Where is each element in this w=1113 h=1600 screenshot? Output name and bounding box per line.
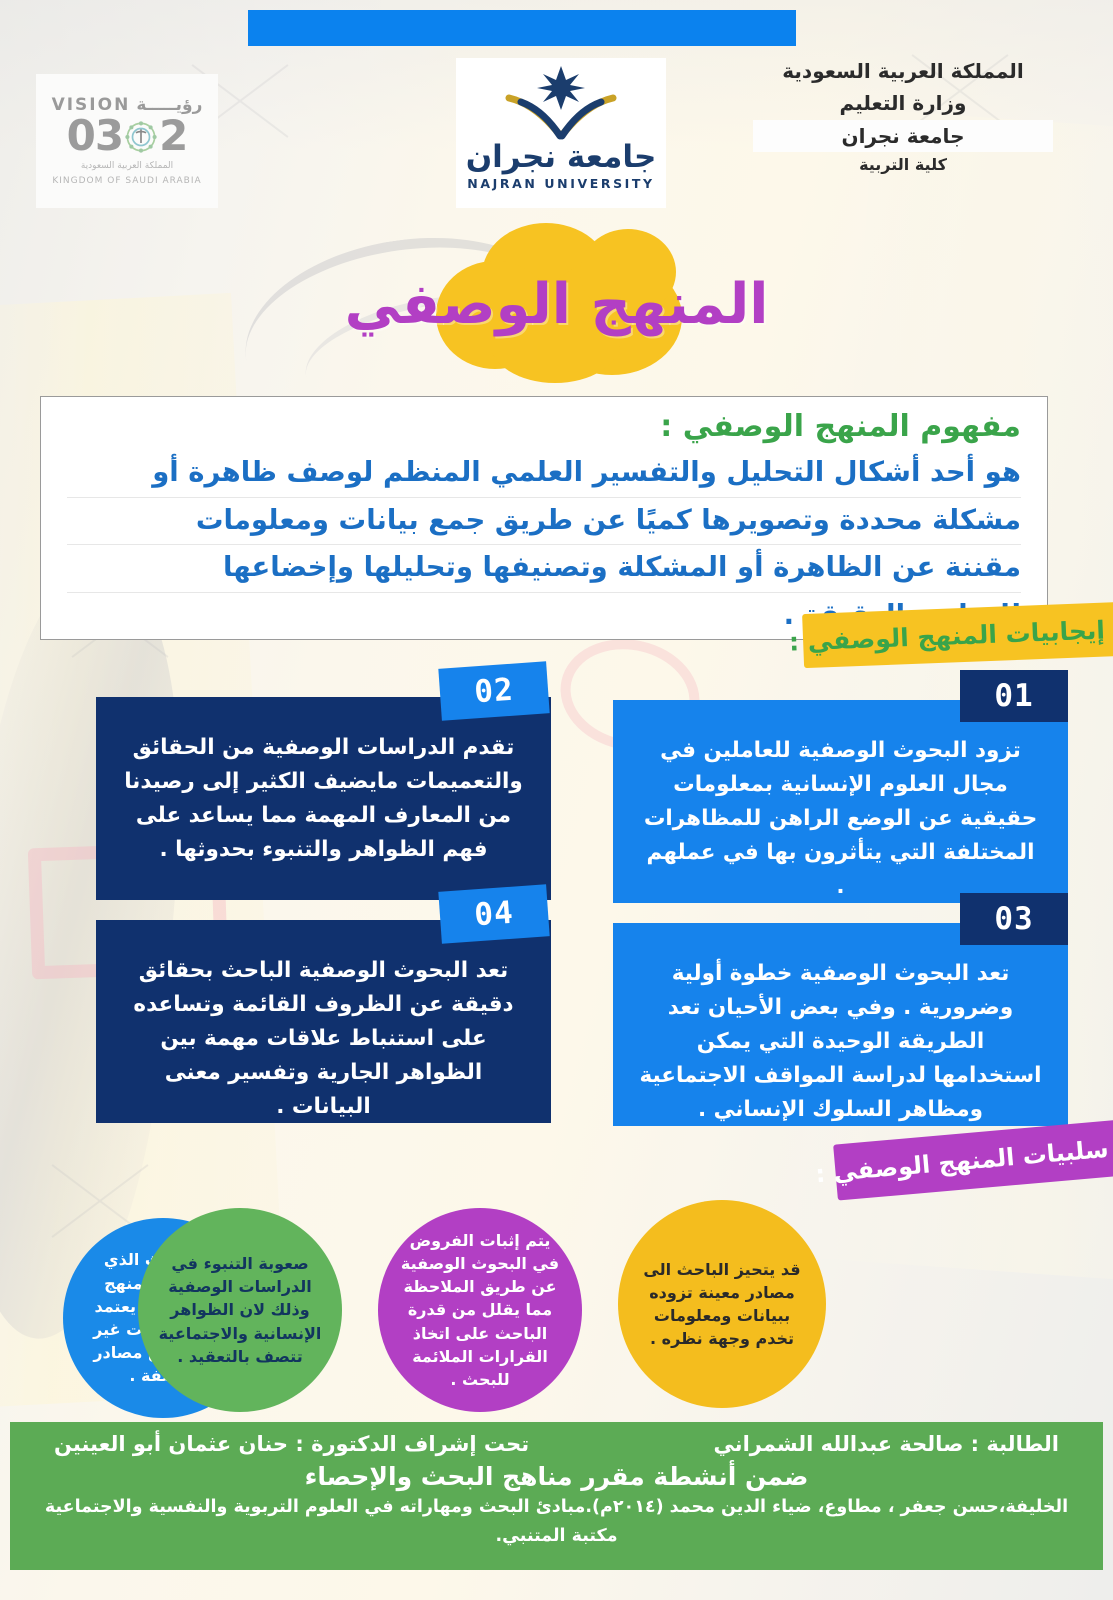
vision-kingdom-ar: المملكة العربية السعودية (81, 160, 173, 172)
header-line-university: جامعة نجران (753, 120, 1053, 152)
institution-header-text: المملكة العربية السعودية وزارة التعليم ج… (753, 55, 1053, 178)
najran-name-en: NAJRAN UNIVERSITY (467, 176, 654, 191)
card-number-badge-04: 04 (438, 884, 549, 943)
negatives-banner-label: سلبيات المنهج الوصفي : (814, 1135, 1109, 1189)
concept-definition-box: مفهوم المنهج الوصفي : هو أحد أشكال التحل… (40, 396, 1048, 640)
positive-card-03: تعد البحوث الوصفية خطوة أولية وضرورية . … (613, 923, 1068, 1126)
footer-band: الطالبة : صالحة عبدالله الشمراني تحت إشر… (10, 1422, 1103, 1570)
vision-2030-logo: رؤيـــــة VISION 2 (36, 74, 218, 208)
header-line-ministry: وزارة التعليم (753, 87, 1053, 119)
najran-university-logo: جامعة نجران NAJRAN UNIVERSITY (456, 58, 666, 208)
vision-digit-0: 0 (67, 115, 95, 157)
footer-reference-line-2: مكتبة المتنبي. (36, 1524, 1077, 1549)
top-accent-bar (248, 10, 796, 46)
concept-heading: مفهوم المنهج الوصفي : (67, 409, 1021, 444)
footer-student: الطالبة : صالحة عبدالله الشمراني (713, 1432, 1059, 1456)
card-number-badge-02: 02 (438, 661, 549, 720)
najran-star-book-icon (499, 64, 623, 140)
vision-year: 2 3 0 (67, 115, 188, 157)
header-line-college: كلية التربية (753, 152, 1053, 178)
vision-digit-3: 3 (95, 115, 123, 157)
positive-card-02: تقدم الدراسات الوصفية من الحقائق والتعمي… (96, 697, 551, 900)
concept-line: مشكلة محددة وتصويرها كميًا عن طريق جمع ب… (67, 498, 1021, 546)
footer-supervisor: تحت إشراف الدكتورة : حنان عثمان أبو العي… (54, 1432, 529, 1456)
card-number-badge-03: 03 (960, 893, 1068, 945)
footer-course: ضمن أنشطة مقرر مناهج البحث والإحصاء (36, 1462, 1077, 1491)
concept-line: مقننة عن الظاهرة أو المشكلة وتصنيفها وتح… (67, 545, 1021, 593)
vision-kingdom-en: KINGDOM OF SAUDI ARABIA (52, 175, 201, 187)
positive-card-04: تعد البحوث الوصفية الباحث بحقائق دقيقة ع… (96, 920, 551, 1123)
positives-banner-label: إيجابيات المنهج الوصفي : (788, 615, 1105, 656)
najran-name-ar: جامعة نجران (466, 142, 657, 173)
card-number-badge-01: 01 (960, 670, 1068, 722)
negative-circle-4: صعوبة التنبوء في الدراسات الوصفية وذلك ل… (138, 1208, 342, 1412)
header-line-kingdom: المملكة العربية السعودية (753, 55, 1053, 87)
palm-swords-emblem-icon (124, 119, 158, 153)
positive-card-01: تزود البحوث الوصفية للعاملين في مجال الع… (613, 700, 1068, 903)
vision-digit-2: 2 (159, 115, 187, 157)
footer-credits-row: الطالبة : صالحة عبدالله الشمراني تحت إشر… (36, 1432, 1077, 1456)
concept-line: هو أحد أشكال التحليل والتفسير العلمي الم… (67, 450, 1021, 498)
footer-reference-line-1: الخليفة،حسن جعفر ، مطاوع، ضياء الدين محم… (36, 1495, 1077, 1520)
page-title: المنهج الوصفي (0, 272, 1113, 337)
infographic-poster: رؤيـــــة VISION 2 (0, 0, 1113, 1600)
negative-circle-3: يتم إثبات الفروض في البحوث الوصفية عن طر… (378, 1208, 582, 1412)
negative-circle-2: قد يتحيز الباحث الى مصادر معينة تزوده بب… (618, 1200, 826, 1408)
